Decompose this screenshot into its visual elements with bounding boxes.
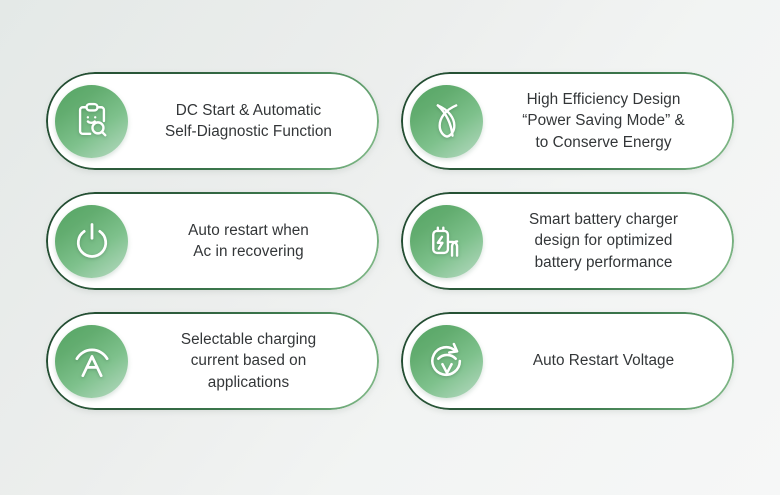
icon-circle: [55, 85, 128, 158]
feature-card-label: Smart battery charger design for optimiz…: [483, 209, 734, 274]
icon-circle: [55, 325, 128, 398]
icon-circle: [410, 325, 483, 398]
feature-card-selectable-charging-current[interactable]: Selectable charging current based on app…: [46, 312, 379, 410]
feature-card-smart-battery-charger[interactable]: Smart battery charger design for optimiz…: [401, 192, 734, 290]
clipboard-magnifier-icon: [70, 99, 114, 143]
feature-card-label: Selectable charging current based on app…: [128, 329, 379, 394]
leaf-icon: [425, 99, 469, 143]
feature-card-label: DC Start & Automatic Self-Diagnostic Fun…: [128, 100, 379, 143]
voltage-restart-icon: [425, 339, 469, 383]
ampere-arc-icon: [70, 339, 114, 383]
battery-charger-icon: [425, 219, 469, 263]
feature-card-label: Auto Restart Voltage: [483, 350, 734, 372]
power-icon: [70, 219, 114, 263]
feature-card-auto-restart-ac-recovering[interactable]: Auto restart when Ac in recovering: [46, 192, 379, 290]
icon-circle: [410, 205, 483, 278]
feature-card-label: High Efficiency Design “Power Saving Mod…: [483, 89, 734, 154]
feature-card-grid: DC Start & Automatic Self-Diagnostic Fun…: [0, 0, 780, 495]
feature-card-auto-restart-voltage[interactable]: Auto Restart Voltage: [401, 312, 734, 410]
feature-card-dc-start-self-diagnostic[interactable]: DC Start & Automatic Self-Diagnostic Fun…: [46, 72, 379, 170]
feature-card-label: Auto restart when Ac in recovering: [128, 220, 379, 263]
icon-circle: [55, 205, 128, 278]
feature-card-high-efficiency-design[interactable]: High Efficiency Design “Power Saving Mod…: [401, 72, 734, 170]
icon-circle: [410, 85, 483, 158]
